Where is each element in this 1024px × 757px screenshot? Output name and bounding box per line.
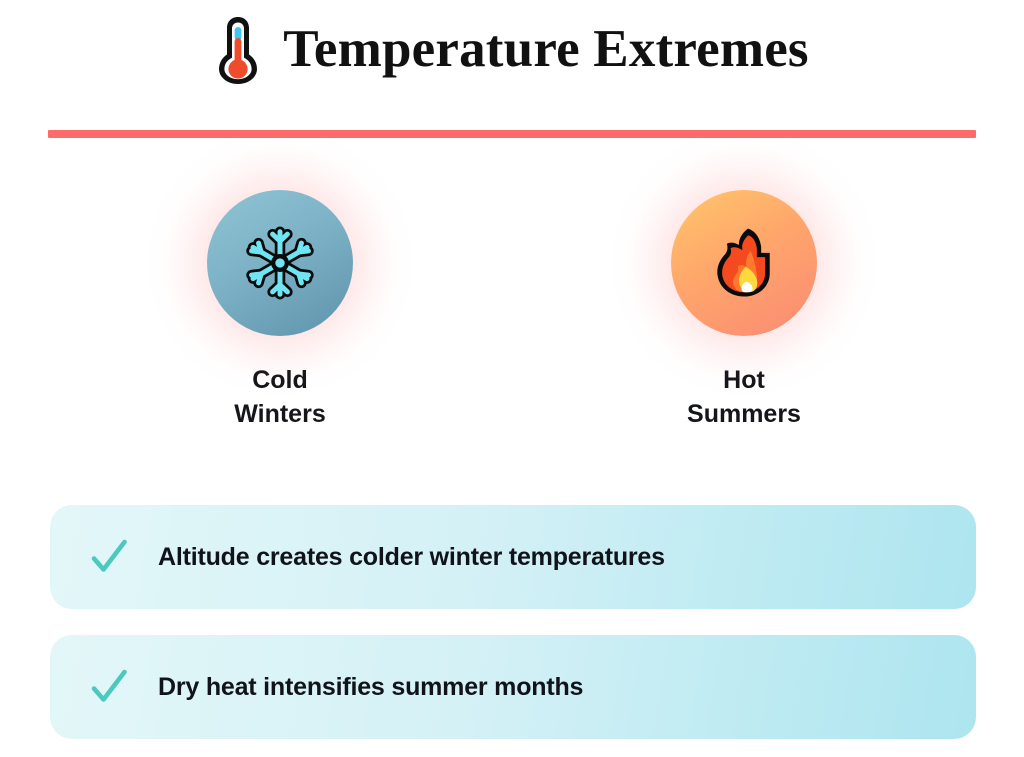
list-item[interactable]: Altitude creates colder winter temperatu… — [50, 505, 976, 609]
list-item[interactable]: Dry heat intensifies summer months — [50, 635, 976, 739]
column-hot: Hot Summers — [594, 190, 894, 432]
hot-circle — [671, 190, 817, 336]
icon-columns: Cold Winters Hot Summers — [48, 190, 976, 432]
checklist: Altitude creates colder winter temperatu… — [50, 505, 976, 739]
slide-root: Temperature Extremes — [0, 0, 1024, 757]
list-item-text: Altitude creates colder winter temperatu… — [158, 542, 665, 572]
check-icon — [88, 536, 158, 578]
snowflake-icon — [241, 224, 319, 302]
page-header: Temperature Extremes — [0, 14, 1024, 84]
list-item-text: Dry heat intensifies summer months — [158, 672, 583, 702]
page-title: Temperature Extremes — [283, 23, 809, 76]
header-divider — [48, 130, 976, 138]
cold-circle — [207, 190, 353, 336]
thermometer-icon — [215, 14, 261, 84]
check-icon — [88, 666, 158, 708]
cold-label: Cold Winters — [234, 364, 325, 432]
column-cold: Cold Winters — [130, 190, 430, 432]
fire-icon — [705, 224, 783, 302]
hot-label: Hot Summers — [687, 364, 801, 432]
